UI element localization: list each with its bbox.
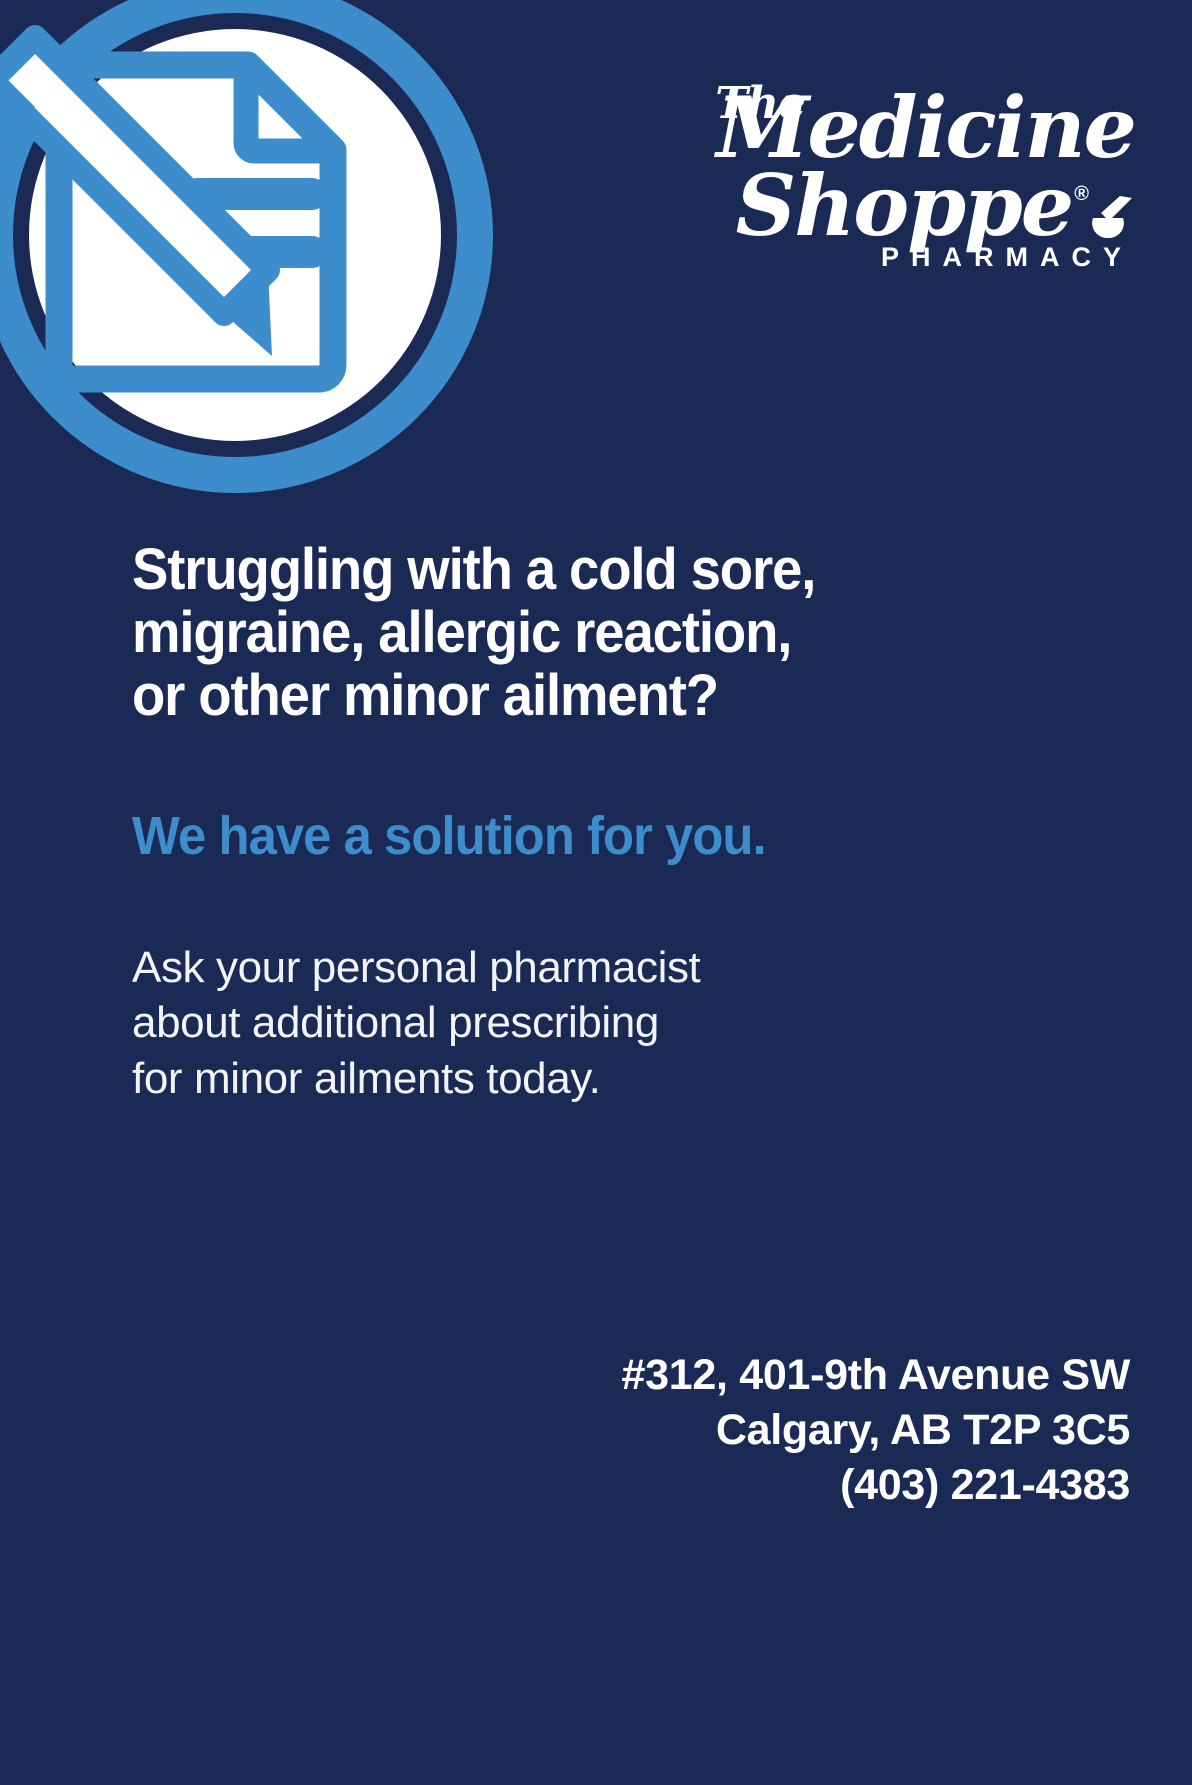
registered-trademark-icon: ® bbox=[1074, 184, 1089, 204]
headline-line-3: or other minor ailment? bbox=[132, 663, 718, 728]
mortar-and-pestle-icon bbox=[1091, 194, 1135, 240]
body-copy-line-3: for minor ailments today. bbox=[132, 1051, 1012, 1106]
body-copy-line-1: Ask your personal pharmacist bbox=[132, 940, 1012, 995]
headline: Struggling with a cold sore, migraine, a… bbox=[132, 538, 959, 728]
logo-shoppe-word: Shoppe bbox=[736, 164, 1073, 248]
logo-shoppe-row: Shoppe ® bbox=[736, 164, 1135, 248]
logo-script-block: The Medicine Shoppe ® PHARMACY bbox=[715, 78, 1135, 258]
medicine-shoppe-logo: The Medicine Shoppe ® PHARMACY bbox=[715, 78, 1135, 258]
subheadline: We have a solution for you. bbox=[132, 807, 959, 866]
phone-number[interactable]: (403) 221-4383 bbox=[621, 1458, 1130, 1513]
brand-mark bbox=[0, 0, 538, 560]
headline-line-1: Struggling with a cold sore, bbox=[132, 537, 815, 602]
address-street: #312, 401-9th Avenue SW bbox=[621, 1348, 1130, 1403]
copy-block: Struggling with a cold sore, migraine, a… bbox=[132, 538, 1012, 1106]
body-copy-line-2: about additional prescribing bbox=[132, 995, 1012, 1050]
logo-pharmacy-word: PHARMACY bbox=[881, 244, 1133, 271]
headline-line-2: migraine, allergic reaction, bbox=[132, 600, 791, 665]
body-copy: Ask your personal pharmacist about addit… bbox=[132, 940, 1012, 1106]
address-city-province-postal: Calgary, AB T2P 3C5 bbox=[621, 1403, 1130, 1458]
poster-canvas: The Medicine Shoppe ® PHARMACY Strugglin… bbox=[0, 0, 1192, 1785]
contact-block: #312, 401-9th Avenue SW Calgary, AB T2P … bbox=[621, 1348, 1130, 1513]
